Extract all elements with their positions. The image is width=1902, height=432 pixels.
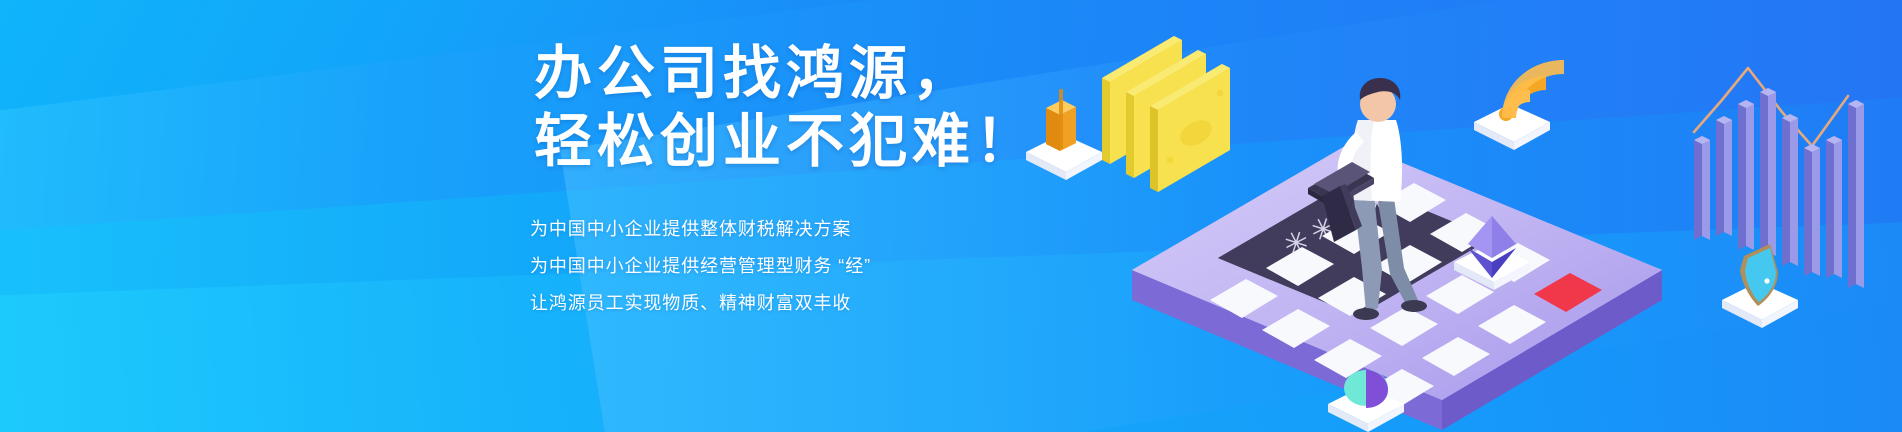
- headline-line-2: 轻松创业不犯难！: [530, 108, 1090, 176]
- subtitle-line-3: 让鸿源员工实现物质、精神财富双丰收: [530, 285, 1090, 322]
- hero-banner: 办公司找鸿源， 轻松创业不犯难！ 为中国中小企业提供整体财税解决方案 为中国中小…: [0, 0, 1902, 432]
- banner-copy: 办公司找鸿源， 轻松创业不犯难！ 为中国中小企业提供整体财税解决方案 为中国中小…: [530, 40, 1090, 323]
- subtitle-line-1: 为中国中小企业提供整体财税解决方案: [530, 211, 1090, 248]
- rss-icon: [1474, 60, 1564, 150]
- banknote-icon: [1102, 36, 1230, 192]
- headline-line-1: 办公司找鸿源，: [530, 40, 1090, 108]
- bar-chart-icon: [1694, 68, 1864, 288]
- illustration: ✳✳✳✳: [1022, 0, 1902, 432]
- subtitle-line-2: 为中国中小企业提供经营管理型财务 “经”: [530, 248, 1090, 285]
- banner-subtitle: 为中国中小企业提供整体财税解决方案 为中国中小企业提供经营管理型财务 “经” 让…: [530, 211, 1090, 323]
- gold-coins-icon: [1026, 89, 1102, 180]
- page-title: 办公司找鸿源， 轻松创业不犯难！: [530, 40, 1090, 177]
